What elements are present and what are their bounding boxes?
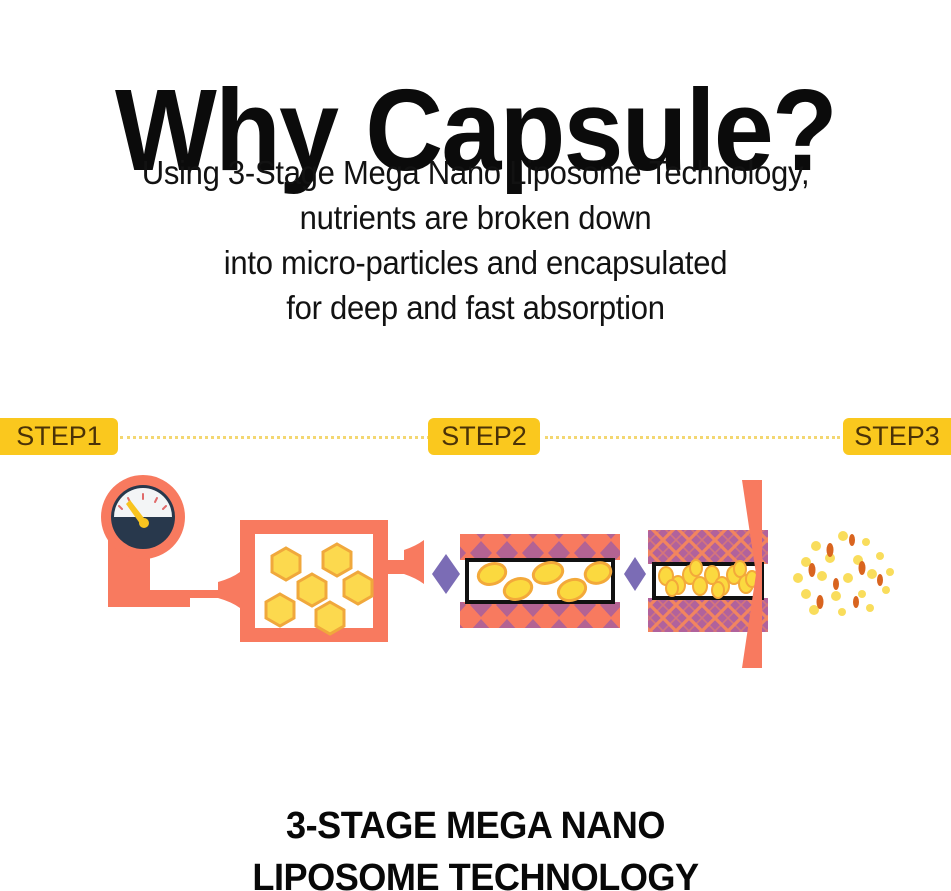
footer-caption: 3-STAGE MEGA NANO LIPOSOME TECHNOLOGY <box>0 800 951 891</box>
caption-line-1: 3-STAGE MEGA NANO <box>24 800 927 852</box>
step-badge-3: STEP3 <box>843 418 951 455</box>
subtitle-line-4: for deep and fast absorption <box>29 285 923 330</box>
stage1-outlet-nozzle <box>190 572 240 608</box>
step-connector-2-3 <box>545 436 840 439</box>
step-strip: STEP1 STEP2 STEP3 <box>0 418 951 458</box>
infographic-page: Why Capsule? Using 3-Stage Mega Nano Lip… <box>0 0 951 891</box>
stage-2-membrane-tube <box>460 534 620 628</box>
process-illustration <box>0 462 951 672</box>
step-badge-2: STEP2 <box>428 418 540 455</box>
subtitle-line-3: into micro-particles and encapsulated <box>29 240 923 285</box>
chamber-outlet-nozzle <box>388 540 424 584</box>
stage-3-nano-tube <box>648 480 768 668</box>
stage-1-pressure-chamber <box>101 475 424 642</box>
subtitle-line-1: Using 3-Stage Mega Nano Liposome Technol… <box>29 150 923 195</box>
valve-diamond-2 <box>624 557 646 591</box>
subtitle-line-2: nutrients are broken down <box>29 195 923 240</box>
tube2-top-membrane <box>460 534 620 560</box>
caption-line-2: LIPOSOME TECHNOLOGY <box>24 852 927 891</box>
subtitle-block: Using 3-Stage Mega Nano Liposome Technol… <box>0 150 951 330</box>
valve-diamond-1 <box>432 554 460 594</box>
step-connector-1-2 <box>120 436 430 439</box>
step-badge-1: STEP1 <box>0 418 118 455</box>
nano-particle-spray <box>793 531 894 616</box>
gauge-needle-hub <box>139 518 149 528</box>
tube3-top-membrane <box>648 530 768 564</box>
tube2-bottom-membrane <box>460 602 620 628</box>
